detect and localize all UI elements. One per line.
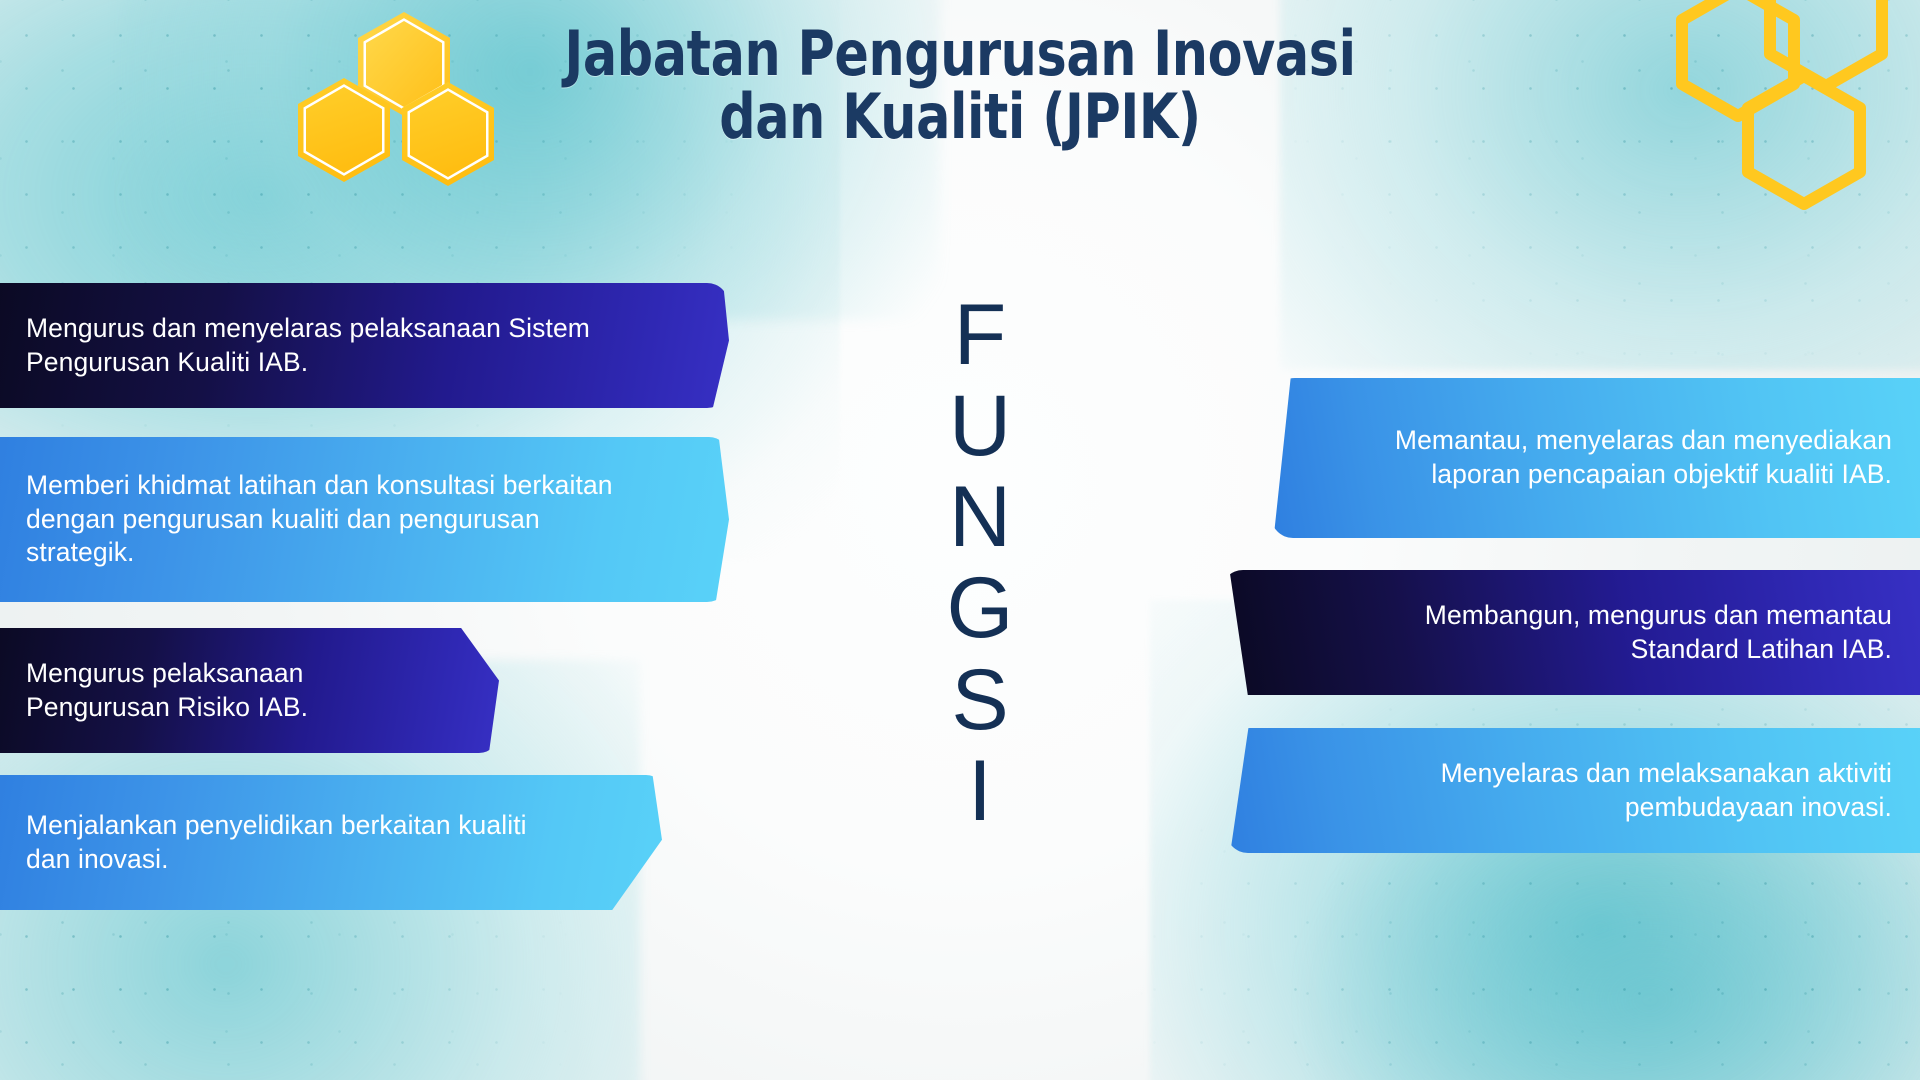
center-letter-f: F: [920, 290, 1040, 381]
center-letter-g: G: [920, 563, 1040, 654]
slide-canvas: Jabatan Pengurusan Inovasi dan Kualiti (…: [0, 0, 1920, 1080]
function-box-right-1-text: Memantau, menyelaras dan menyediakan lap…: [1367, 424, 1892, 492]
page-title: Jabatan Pengurusan Inovasi dan Kualiti (…: [173, 22, 1747, 148]
function-box-left-1[interactable]: Mengurus dan menyelaras pelaksanaan Sist…: [0, 283, 729, 408]
center-letter-n: N: [920, 472, 1040, 563]
center-letter-s: S: [920, 655, 1040, 746]
function-box-right-3-text: Menyelaras dan melaksanakan aktiviti pem…: [1322, 757, 1892, 825]
function-box-left-3-text: Mengurus pelaksanaan Pengurusan Risiko I…: [26, 657, 403, 725]
function-box-left-4[interactable]: Menjalankan penyelidikan berkaitan kuali…: [0, 775, 666, 910]
center-letter-u: U: [920, 381, 1040, 472]
function-box-left-4-text: Menjalankan penyelidikan berkaitan kuali…: [26, 809, 570, 877]
function-box-right-3[interactable]: Menyelaras dan melaksanakan aktiviti pem…: [1226, 728, 1920, 853]
page-title-line-1: Jabatan Pengurusan Inovasi: [564, 17, 1355, 90]
function-box-right-2-text: Membangun, mengurus dan memantau Standar…: [1317, 599, 1892, 667]
function-box-left-3[interactable]: Mengurus pelaksanaan Pengurusan Risiko I…: [0, 628, 499, 753]
center-vertical-label: F U N G S I: [920, 290, 1040, 837]
function-box-right-1[interactable]: Memantau, menyelaras dan menyediakan lap…: [1271, 378, 1920, 538]
center-letter-i: I: [920, 746, 1040, 837]
function-box-left-2-text: Memberi khidmat latihan dan konsultasi b…: [26, 469, 633, 571]
page-title-line-2: dan Kualiti (JPIK): [173, 85, 1747, 148]
function-box-left-2[interactable]: Memberi khidmat latihan dan konsultasi b…: [0, 437, 729, 602]
function-box-right-2[interactable]: Membangun, mengurus dan memantau Standar…: [1221, 570, 1920, 695]
function-box-left-1-text: Mengurus dan menyelaras pelaksanaan Sist…: [26, 312, 633, 380]
